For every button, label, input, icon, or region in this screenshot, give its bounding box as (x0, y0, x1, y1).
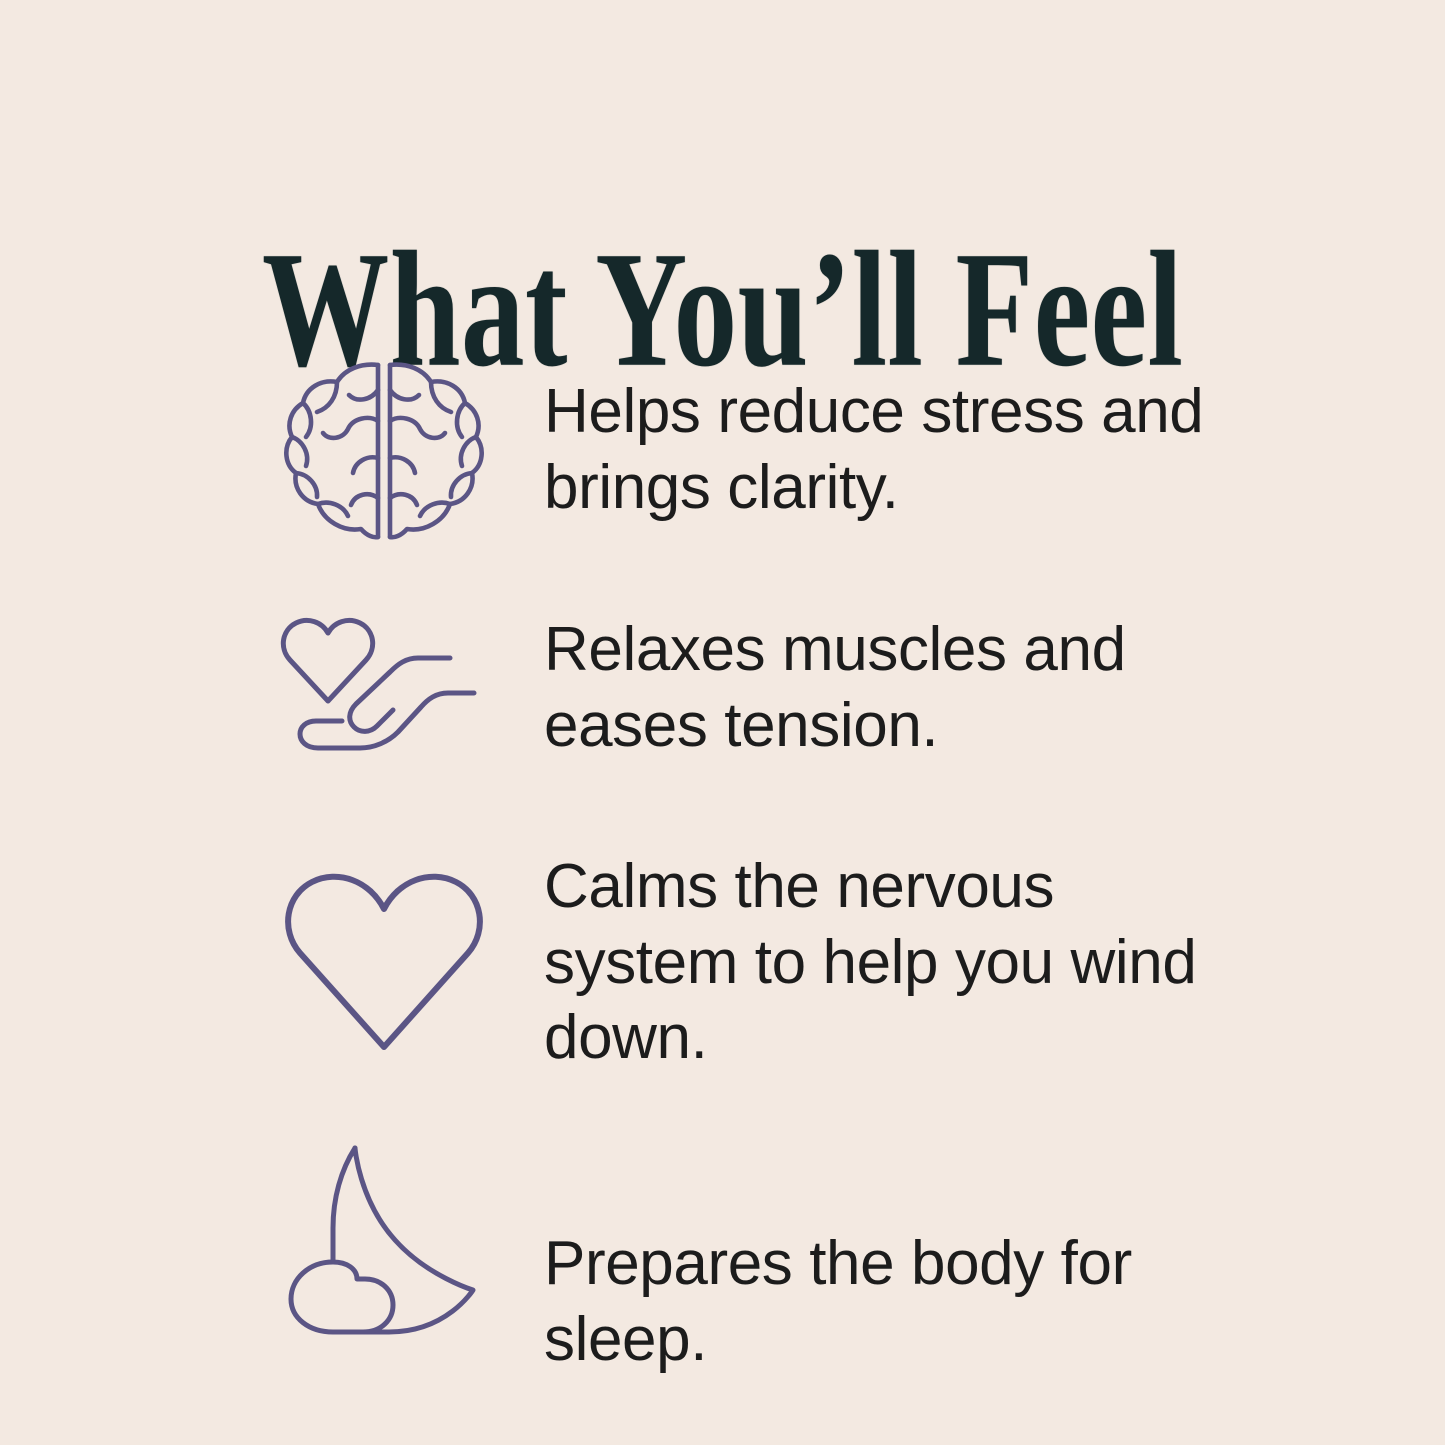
benefits-card: What You’ll Feel (0, 0, 1445, 1445)
heart-in-hand-icon (278, 608, 490, 768)
feature-icon-cell (264, 355, 504, 545)
feature-item: Helps reduce stress and brings clarity. (264, 355, 1264, 545)
feature-text: Calms the nervous system to help you win… (544, 849, 1224, 1076)
feature-text: Relaxes muscles and eases tension. (544, 612, 1224, 763)
moon-cloud-icon (277, 1140, 492, 1340)
feature-icon-cell (264, 863, 504, 1058)
brain-icon (279, 355, 489, 545)
feature-item: Prepares the body for sleep. (264, 1140, 1264, 1377)
feature-item: Calms the nervous system to help you win… (264, 845, 1264, 1076)
feature-text-cell: Relaxes muscles and eases tension. (504, 612, 1264, 763)
feature-text-cell: Calms the nervous system to help you win… (504, 845, 1264, 1076)
feature-icon-cell (264, 1140, 504, 1340)
feature-text: Helps reduce stress and brings clarity. (544, 374, 1224, 525)
feature-text: Prepares the body for sleep. (544, 1226, 1224, 1377)
feature-text-cell: Helps reduce stress and brings clarity. (504, 374, 1264, 525)
feature-item: Relaxes muscles and eases tension. (264, 600, 1264, 775)
heart-icon (278, 865, 490, 1055)
feature-icon-cell (264, 600, 504, 775)
feature-text-cell: Prepares the body for sleep. (504, 1140, 1264, 1377)
